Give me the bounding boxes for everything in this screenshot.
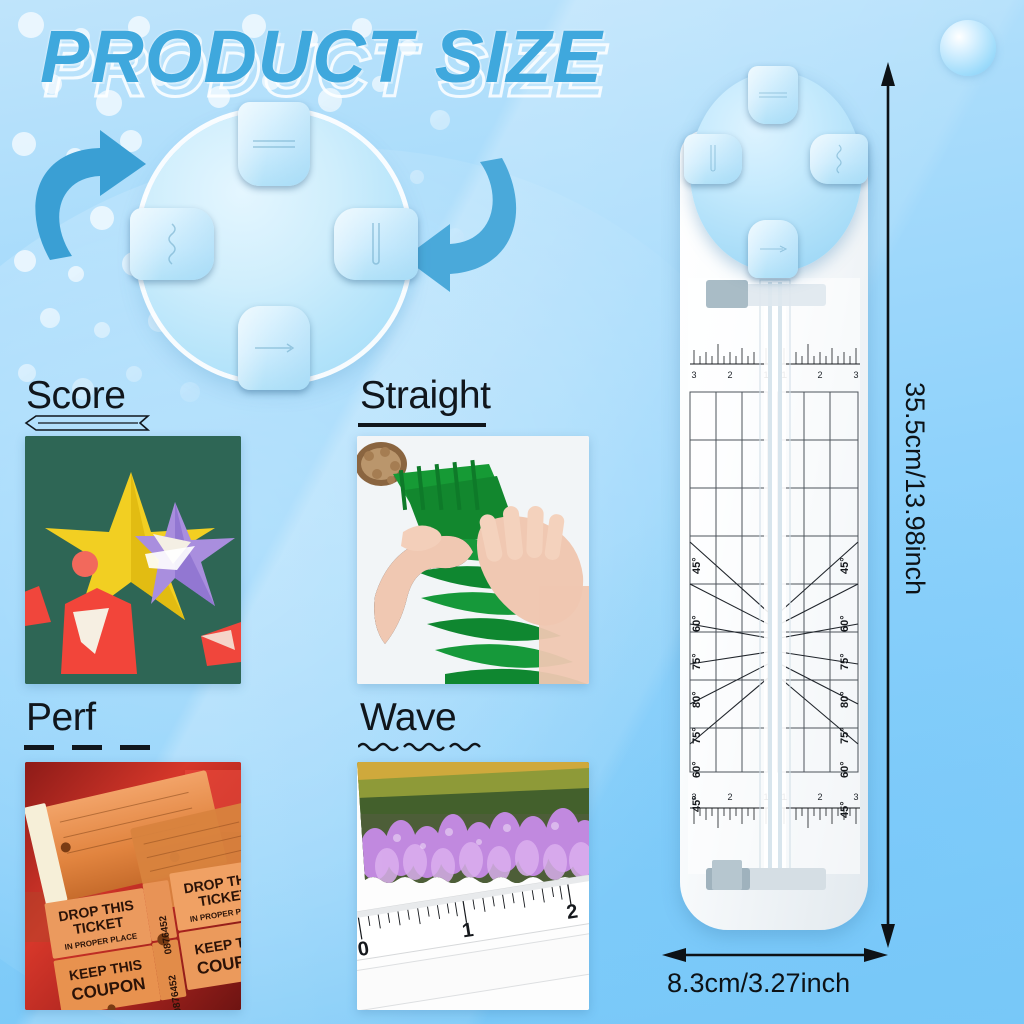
- perf-blade-icon: [238, 306, 310, 390]
- svg-text:2: 2: [817, 792, 822, 802]
- svg-text:3: 3: [691, 370, 696, 380]
- feature-label-score: Score: [26, 374, 125, 418]
- score-line-icon: [24, 414, 152, 437]
- page-title: PRODUCT SIZE PRODUCT SIZE: [40, 8, 660, 100]
- cartridge-wave: [130, 208, 214, 280]
- score-blade-icon-small: [748, 66, 798, 124]
- svg-text:3: 3: [853, 370, 858, 380]
- svg-text:75°: 75°: [839, 727, 851, 744]
- wave-blade-icon-small: [810, 134, 868, 184]
- product-size-infographic: PRODUCT SIZE PRODUCT SIZE: [0, 0, 1024, 1024]
- feature-photo-straight: [357, 436, 589, 684]
- page-title-text: PRODUCT SIZE: [40, 14, 603, 99]
- svg-text:60°: 60°: [839, 615, 851, 632]
- svg-text:2: 2: [727, 370, 732, 380]
- svg-text:60°: 60°: [839, 761, 851, 778]
- feature-label-straight: Straight: [360, 374, 490, 418]
- straight-line-icon: [358, 418, 486, 436]
- svg-text:80°: 80°: [839, 691, 851, 708]
- wave-line-icon: [358, 740, 486, 759]
- svg-text:75°: 75°: [839, 653, 851, 670]
- svg-text:75°: 75°: [691, 727, 703, 744]
- svg-text:75°: 75°: [691, 653, 703, 670]
- height-dimension-label: 35.5cm/13.98inch: [899, 382, 930, 595]
- svg-text:2: 2: [727, 792, 732, 802]
- dashed-line-icon: [24, 740, 152, 758]
- cartridge-straight: [334, 208, 418, 280]
- background-dot: [430, 110, 450, 130]
- cartridge-perf: [238, 306, 310, 390]
- perf-blade-icon-small: [748, 220, 798, 278]
- cartridge-score: [238, 102, 310, 186]
- straight-blade-icon: [334, 208, 418, 280]
- svg-text:45°: 45°: [839, 557, 851, 574]
- cartridge-score-small: [748, 66, 798, 124]
- background-dot: [180, 382, 200, 402]
- wave-blade-icon: [130, 208, 214, 280]
- svg-text:80°: 80°: [691, 691, 703, 708]
- svg-text:3: 3: [691, 792, 696, 802]
- rotary-head-on-product: [690, 72, 862, 272]
- feature-photo-score: [25, 436, 241, 684]
- paper-trimmer-product: 321 123: [672, 72, 876, 934]
- feature-label-wave: Wave: [360, 696, 456, 740]
- decorative-orb: [940, 20, 996, 76]
- svg-text:45°: 45°: [691, 557, 703, 574]
- svg-text:2: 2: [817, 370, 822, 380]
- feature-photo-wave: 0 1 2: [357, 762, 589, 1010]
- score-blade-icon: [238, 102, 310, 186]
- background-dot: [94, 322, 110, 338]
- background-dot: [68, 266, 84, 282]
- svg-text:60°: 60°: [691, 761, 703, 778]
- rotary-head-enlarged: [140, 112, 408, 380]
- feature-photo-perf: DROP THIS TICKET IN PROPER PLACE DROP TH…: [25, 762, 241, 1010]
- straight-blade-icon-small: [684, 134, 742, 184]
- cartridge-straight-small: [684, 134, 742, 184]
- cartridge-wave-small: [810, 134, 868, 184]
- cartridge-perf-small: [748, 220, 798, 278]
- svg-text:3: 3: [853, 792, 858, 802]
- svg-text:45°: 45°: [839, 801, 851, 818]
- feature-label-perf: Perf: [26, 696, 96, 740]
- svg-text:60°: 60°: [691, 615, 703, 632]
- width-dimension-label: 8.3cm/3.27inch: [667, 968, 850, 999]
- background-dot: [40, 308, 60, 328]
